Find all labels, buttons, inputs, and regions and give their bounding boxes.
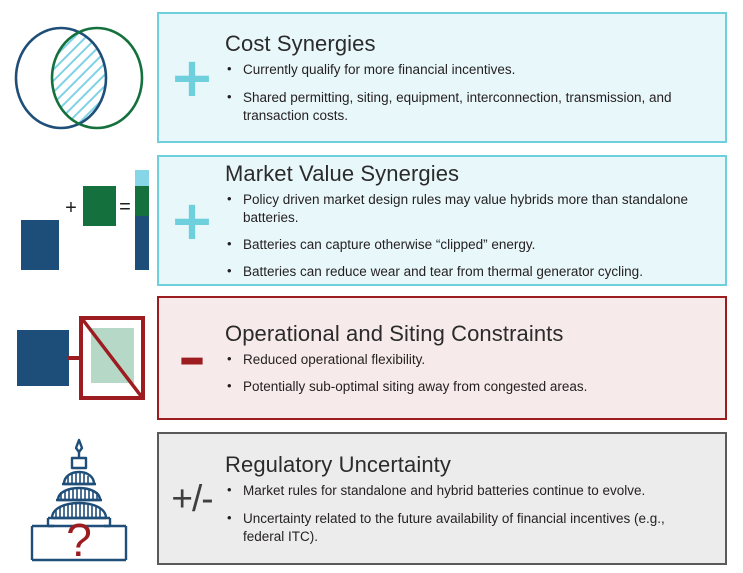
minus-sign-glyph: – [179, 343, 206, 373]
panel-body-constraints: Operational and Siting Constraints Reduc… [225, 320, 725, 396]
panel-body-market: Market Value Synergies Policy driven mar… [225, 160, 725, 282]
list-item: Batteries can reduce wear and tear from … [225, 263, 707, 281]
svg-text:=: = [119, 196, 131, 218]
list-item: Policy driven market design rules may va… [225, 191, 707, 227]
section-cost-synergies: + Cost Synergies Currently qualify for m… [0, 12, 743, 143]
list-item: Shared permitting, siting, equipment, in… [225, 89, 707, 125]
list-item: Reduced operational flexibility. [225, 351, 707, 369]
panel-regulatory-uncertainty: +/- Regulatory Uncertainty Market rules … [157, 432, 727, 565]
list-item: Batteries can capture otherwise “clipped… [225, 236, 707, 254]
panel-body-regulatory: Regulatory Uncertainty Market rules for … [225, 451, 725, 545]
list-item: Potentially sub-optimal siting away from… [225, 378, 707, 396]
venn-diagram-icon [9, 22, 149, 134]
list-item: Market rules for standalone and hybrid b… [225, 482, 707, 500]
blocked-connection-icon [9, 306, 149, 410]
plus-sign: + [159, 202, 225, 240]
icon-cell-venn [0, 12, 157, 143]
icon-cell-capitol: ? [0, 432, 157, 565]
panel-title-regulatory-uncertainty: Regulatory Uncertainty [225, 453, 707, 477]
plus-sign-glyph: + [169, 202, 214, 240]
bullet-list-cost-synergies: Currently qualify for more financial inc… [225, 61, 707, 124]
stacked-bar-chart-icon: + = [9, 168, 149, 274]
panel-market-value-synergies: + Market Value Synergies Policy driven m… [157, 155, 727, 286]
panel-body-cost: Cost Synergies Currently qualify for mor… [225, 30, 725, 124]
panel-title-operational-and-siting-constraints: Operational and Siting Constraints [225, 322, 707, 346]
section-operational-and-siting-constraints: – Operational and Siting Constraints Red… [0, 296, 743, 420]
panel-title-market-value-synergies: Market Value Synergies [225, 162, 707, 186]
icon-cell-bars: + = [0, 155, 157, 286]
panel-title-cost-synergies: Cost Synergies [225, 32, 707, 56]
section-market-value-synergies: + = + Market Value Synergies Policy driv… [0, 155, 743, 286]
infographic-root: + Cost Synergies Currently qualify for m… [0, 0, 743, 573]
section-regulatory-uncertainty: ? +/- Regulatory Uncertainty Market rule… [0, 432, 743, 565]
plus-sign: + [159, 59, 225, 97]
plus-sign-glyph: + [169, 59, 214, 97]
svg-text:+: + [65, 197, 77, 219]
icon-cell-constraint [0, 296, 157, 420]
capitol-building-icon: ? [24, 436, 134, 562]
bullet-list-market-value-synergies: Policy driven market design rules may va… [225, 191, 707, 281]
list-item: Currently qualify for more financial inc… [225, 61, 707, 79]
plus-minus-sign-glyph: +/- [171, 480, 212, 517]
panel-operational-and-siting-constraints: – Operational and Siting Constraints Red… [157, 296, 727, 420]
panel-cost-synergies: + Cost Synergies Currently qualify for m… [157, 12, 727, 143]
list-item: Uncertainty related to the future availa… [225, 510, 707, 546]
plus-minus-sign: +/- [159, 480, 225, 517]
minus-sign: – [159, 343, 225, 373]
svg-text:?: ? [66, 514, 92, 562]
bullet-list-operational-and-siting-constraints: Reduced operational flexibility. Potenti… [225, 351, 707, 396]
bullet-list-regulatory-uncertainty: Market rules for standalone and hybrid b… [225, 482, 707, 545]
